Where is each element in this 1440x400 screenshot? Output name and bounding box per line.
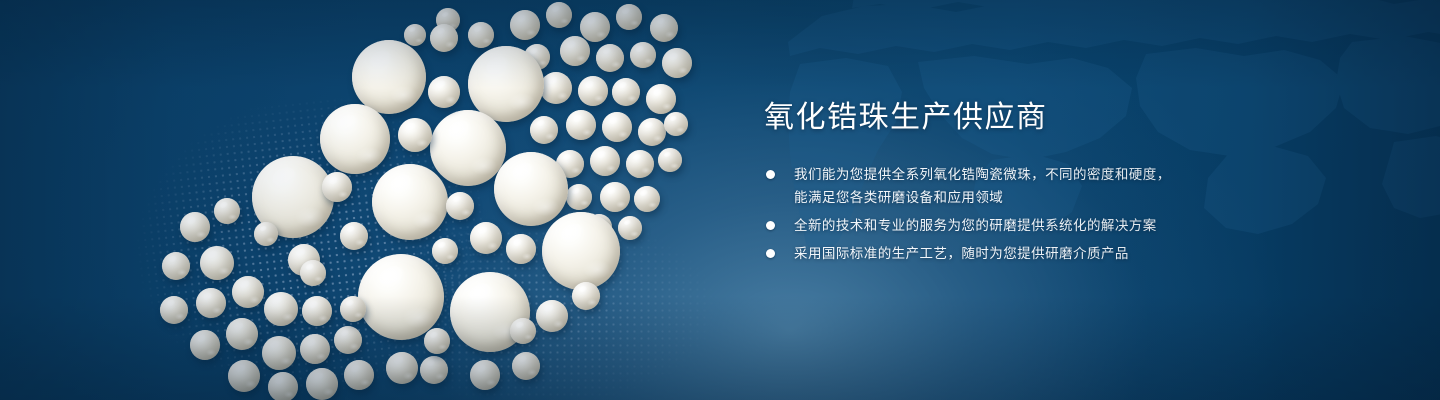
banner-vignette <box>0 0 1440 400</box>
hero-banner: 氧化锆珠生产供应商 我们能为您提供全系列氧化锆陶瓷微珠，不同的密度和硬度， 能满… <box>0 0 1440 400</box>
